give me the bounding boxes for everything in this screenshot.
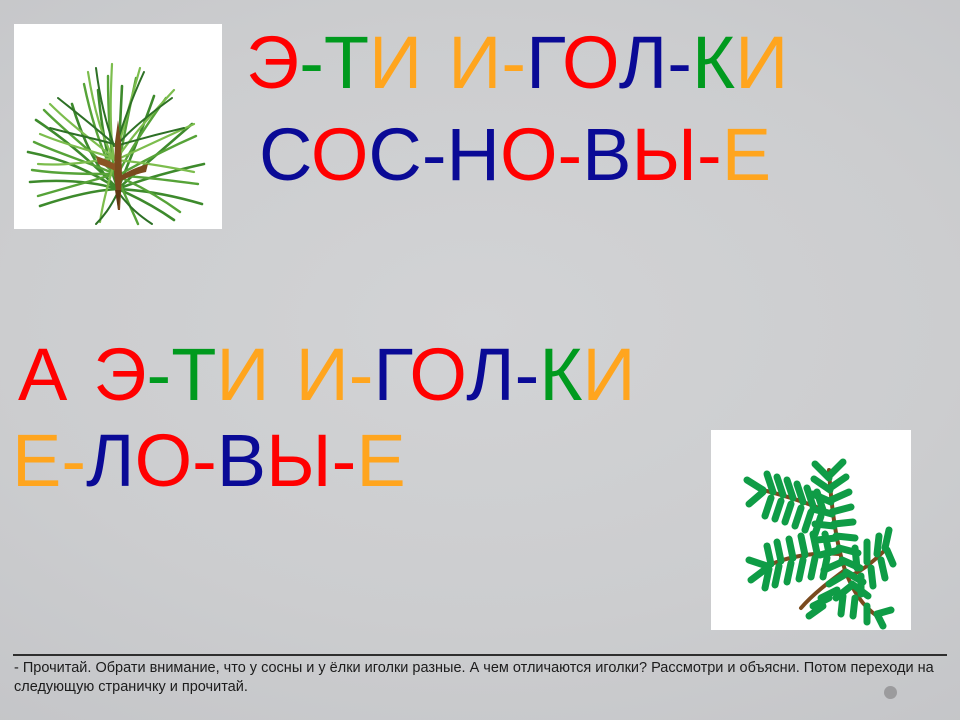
- word-line-sosna-1: Э-ТИ И-ГОЛ-КИ: [246, 26, 788, 100]
- syllable-glyph: Ы: [266, 419, 332, 502]
- word-line-elka-2: Е-ЛО-ВЫ-Е: [12, 424, 406, 498]
- syllable-glyph: Е: [356, 419, 405, 502]
- word-gap: [422, 26, 448, 100]
- word-gap: [67, 338, 93, 412]
- syllable-glyph: Е: [12, 419, 61, 502]
- syllable-glyph: Т: [324, 21, 369, 104]
- syllable-glyph: И: [369, 21, 422, 104]
- syllable-glyph: -: [515, 333, 540, 416]
- syllable-glyph: Г: [526, 21, 562, 104]
- syllable-glyph: С: [259, 113, 311, 196]
- syllable-glyph: И: [582, 333, 635, 416]
- syllable-glyph: Л: [619, 21, 668, 104]
- syllable-glyph: -: [332, 419, 357, 502]
- syllable-glyph: -: [697, 113, 722, 196]
- syllable-glyph: О: [311, 113, 369, 196]
- syllable-glyph: -: [501, 21, 526, 104]
- syllable-glyph: А: [18, 333, 67, 416]
- syllable-glyph: О: [409, 333, 466, 416]
- syllable-glyph: О: [135, 419, 193, 502]
- caption-text: - Прочитай. Обрати внимание, что у сосны…: [14, 659, 948, 697]
- syllable-glyph: Л: [86, 419, 135, 502]
- syllable-glyph: Н: [447, 113, 500, 196]
- syllable-glyph: В: [217, 419, 266, 502]
- word-line-elka-1: А Э-ТИ И-ГОЛ-КИ: [18, 338, 636, 412]
- syllable-glyph: -: [147, 333, 172, 416]
- pine-branch-illustration: [14, 24, 222, 229]
- syllable-glyph: С: [368, 113, 421, 196]
- syllable-glyph: -: [349, 333, 374, 416]
- syllable-glyph: И: [448, 21, 501, 104]
- caption-divider-rule: [13, 654, 947, 656]
- syllable-glyph: О: [562, 21, 619, 104]
- spruce-branch-image: [711, 430, 911, 630]
- syllable-glyph: -: [192, 419, 217, 502]
- syllable-glyph: -: [667, 21, 692, 104]
- syllable-glyph: И: [216, 333, 269, 416]
- syllable-glyph: -: [61, 419, 86, 502]
- syllable-glyph: Э: [246, 21, 299, 104]
- syllable-glyph: -: [299, 21, 324, 104]
- syllable-glyph: Э: [93, 333, 146, 416]
- syllable-glyph: И: [735, 21, 788, 104]
- syllable-glyph: К: [539, 333, 582, 416]
- syllable-glyph: Г: [373, 333, 409, 416]
- syllable-glyph: В: [582, 113, 631, 196]
- syllable-glyph: К: [692, 21, 735, 104]
- word-gap: [270, 338, 296, 412]
- syllable-glyph: И: [296, 333, 349, 416]
- pine-branch-image: [14, 24, 222, 229]
- word-line-sosna-2: СОС-НО-ВЫ-Е: [259, 118, 771, 192]
- syllable-glyph: О: [500, 113, 558, 196]
- syllable-glyph: -: [558, 113, 583, 196]
- syllable-glyph: -: [422, 113, 447, 196]
- bullet-dot-icon: [884, 686, 897, 699]
- syllable-glyph: Т: [171, 333, 216, 416]
- syllable-glyph: Е: [722, 113, 771, 196]
- syllable-glyph: Ы: [632, 113, 698, 196]
- spruce-branch-illustration: [711, 430, 911, 630]
- syllable-glyph: Л: [466, 333, 515, 416]
- slide-canvas: Э-ТИ И-ГОЛ-КИ СОС-НО-ВЫ-Е А Э-ТИ И-ГОЛ-К…: [0, 0, 960, 720]
